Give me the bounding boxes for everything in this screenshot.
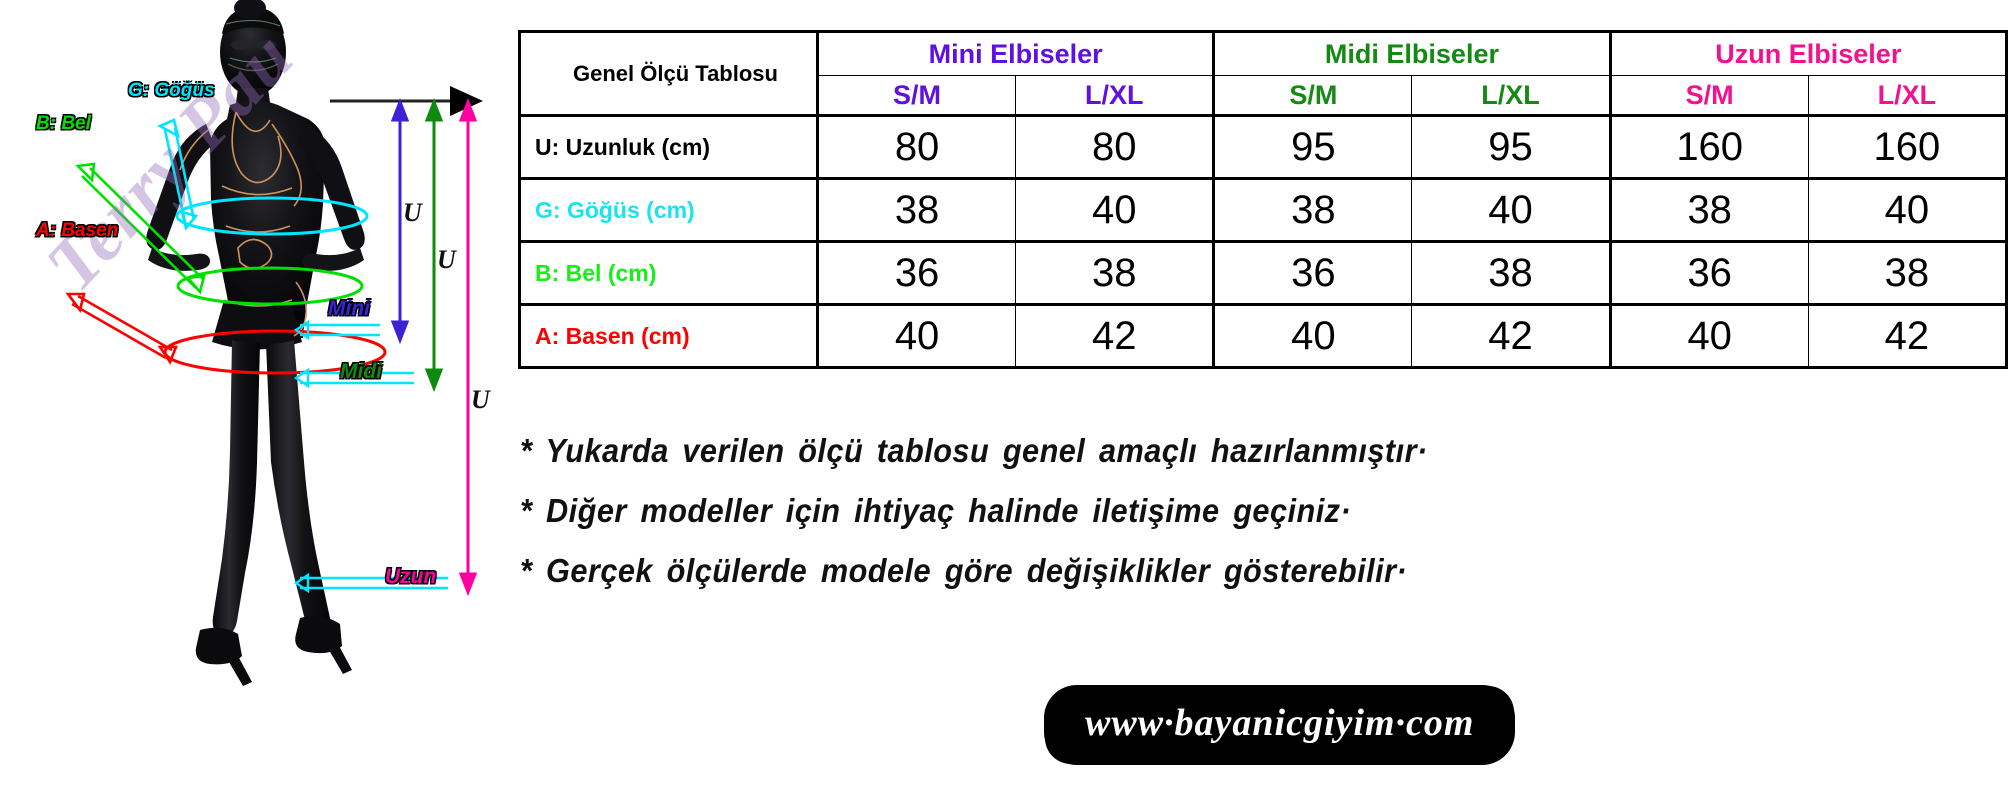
- cell-gogus-midi-sm: 38: [1214, 179, 1412, 242]
- cell-basen-mini-sm: 40: [817, 305, 1015, 368]
- cell-bel-mini-lxl: 38: [1016, 242, 1214, 305]
- cell-uzunluk-mini-lxl: 80: [1016, 116, 1214, 179]
- u-badge-midi: U: [437, 245, 456, 275]
- size-header-mini-lxl: L/XL: [1016, 76, 1214, 116]
- cell-uzunluk-mini-sm: 80: [817, 116, 1015, 179]
- row-label-basen: A: Basen (cm): [520, 305, 818, 368]
- annotation-bel: B: Bel: [36, 113, 91, 135]
- cell-gogus-uzun-sm: 38: [1610, 179, 1808, 242]
- footnotes: * Yukarda verilen ölçü tablosu genel ama…: [520, 432, 2000, 612]
- table-row-bel: B: Bel (cm) 36 38 36 38 36 38: [520, 242, 2007, 305]
- cell-uzunluk-uzun-sm: 160: [1610, 116, 1808, 179]
- model-illustration-panel: Terry Pau G: Göğüs B: Bel A: Basen Mini …: [0, 0, 515, 811]
- size-table-panel: Genel Ölçü Tablosu Mini Elbiseler Midi E…: [515, 0, 2010, 811]
- annotation-gogus: G: Göğüs: [128, 80, 215, 102]
- cell-basen-mini-lxl: 42: [1016, 305, 1214, 368]
- size-header-mini-sm: S/M: [817, 76, 1015, 116]
- website-badge[interactable]: www·bayanicgiyim·com: [1051, 692, 1508, 758]
- cell-gogus-uzun-lxl: 40: [1808, 179, 2006, 242]
- footnote-2: * Diğer modeller için ihtiyaç halinde il…: [520, 492, 1896, 530]
- row-label-gogus: G: Göğüs (cm): [520, 179, 818, 242]
- footnote-3: * Gerçek ölçülerde modele göre değişikli…: [520, 552, 1896, 590]
- cell-basen-midi-sm: 40: [1214, 305, 1412, 368]
- group-header-mini: Mini Elbiseler: [817, 32, 1213, 76]
- length-label-midi: Midi: [340, 360, 382, 384]
- cell-uzunluk-uzun-lxl: 160: [1808, 116, 2006, 179]
- table-row-gogus: G: Göğüs (cm) 38 40 38 40 38 40: [520, 179, 2007, 242]
- size-chart-page: Terry Pau G: Göğüs B: Bel A: Basen Mini …: [0, 0, 2010, 811]
- group-header-uzun: Uzun Elbiseler: [1610, 32, 2006, 76]
- row-label-bel: B: Bel (cm): [520, 242, 818, 305]
- cell-bel-uzun-lxl: 38: [1808, 242, 2006, 305]
- cell-basen-uzun-lxl: 42: [1808, 305, 2006, 368]
- annotation-basen: A: Basen: [36, 220, 118, 242]
- length-label-uzun: Uzun: [385, 565, 436, 589]
- length-label-mini: Mini: [328, 297, 370, 321]
- cell-uzunluk-midi-sm: 95: [1214, 116, 1412, 179]
- hip-pointer-arrow: [68, 294, 176, 362]
- size-header-uzun-lxl: L/XL: [1808, 76, 2006, 116]
- cell-gogus-mini-sm: 38: [817, 179, 1015, 242]
- size-header-midi-lxl: L/XL: [1412, 76, 1610, 116]
- cell-bel-midi-lxl: 38: [1412, 242, 1610, 305]
- cell-bel-uzun-sm: 36: [1610, 242, 1808, 305]
- cell-gogus-mini-lxl: 40: [1016, 179, 1214, 242]
- u-badge-uzun: U: [471, 385, 490, 415]
- table-corner-label: Genel Ölçü Tablosu: [520, 32, 818, 116]
- size-header-uzun-sm: S/M: [1610, 76, 1808, 116]
- table-row-uzunluk: U: Uzunluk (cm) 80 80 95 95 160 160: [520, 116, 2007, 179]
- cell-uzunluk-midi-lxl: 95: [1412, 116, 1610, 179]
- mini-leader-line: [296, 322, 380, 338]
- footnote-1: * Yukarda verilen ölçü tablosu genel ama…: [520, 432, 1896, 470]
- cell-basen-uzun-sm: 40: [1610, 305, 1808, 368]
- row-label-uzunluk: U: Uzunluk (cm): [520, 116, 818, 179]
- size-header-midi-sm: S/M: [1214, 76, 1412, 116]
- cell-basen-midi-lxl: 42: [1412, 305, 1610, 368]
- group-header-midi: Midi Elbiseler: [1214, 32, 1610, 76]
- cell-gogus-midi-lxl: 40: [1412, 179, 1610, 242]
- cell-bel-mini-sm: 36: [817, 242, 1015, 305]
- size-table: Genel Ölçü Tablosu Mini Elbiseler Midi E…: [518, 30, 2008, 369]
- cell-bel-midi-sm: 36: [1214, 242, 1412, 305]
- table-row-basen: A: Basen (cm) 40 42 40 42 40 42: [520, 305, 2007, 368]
- uzun-length-arrow: [461, 102, 475, 592]
- table-group-header-row: Genel Ölçü Tablosu Mini Elbiseler Midi E…: [520, 32, 2007, 76]
- u-badge-mini: U: [403, 198, 422, 228]
